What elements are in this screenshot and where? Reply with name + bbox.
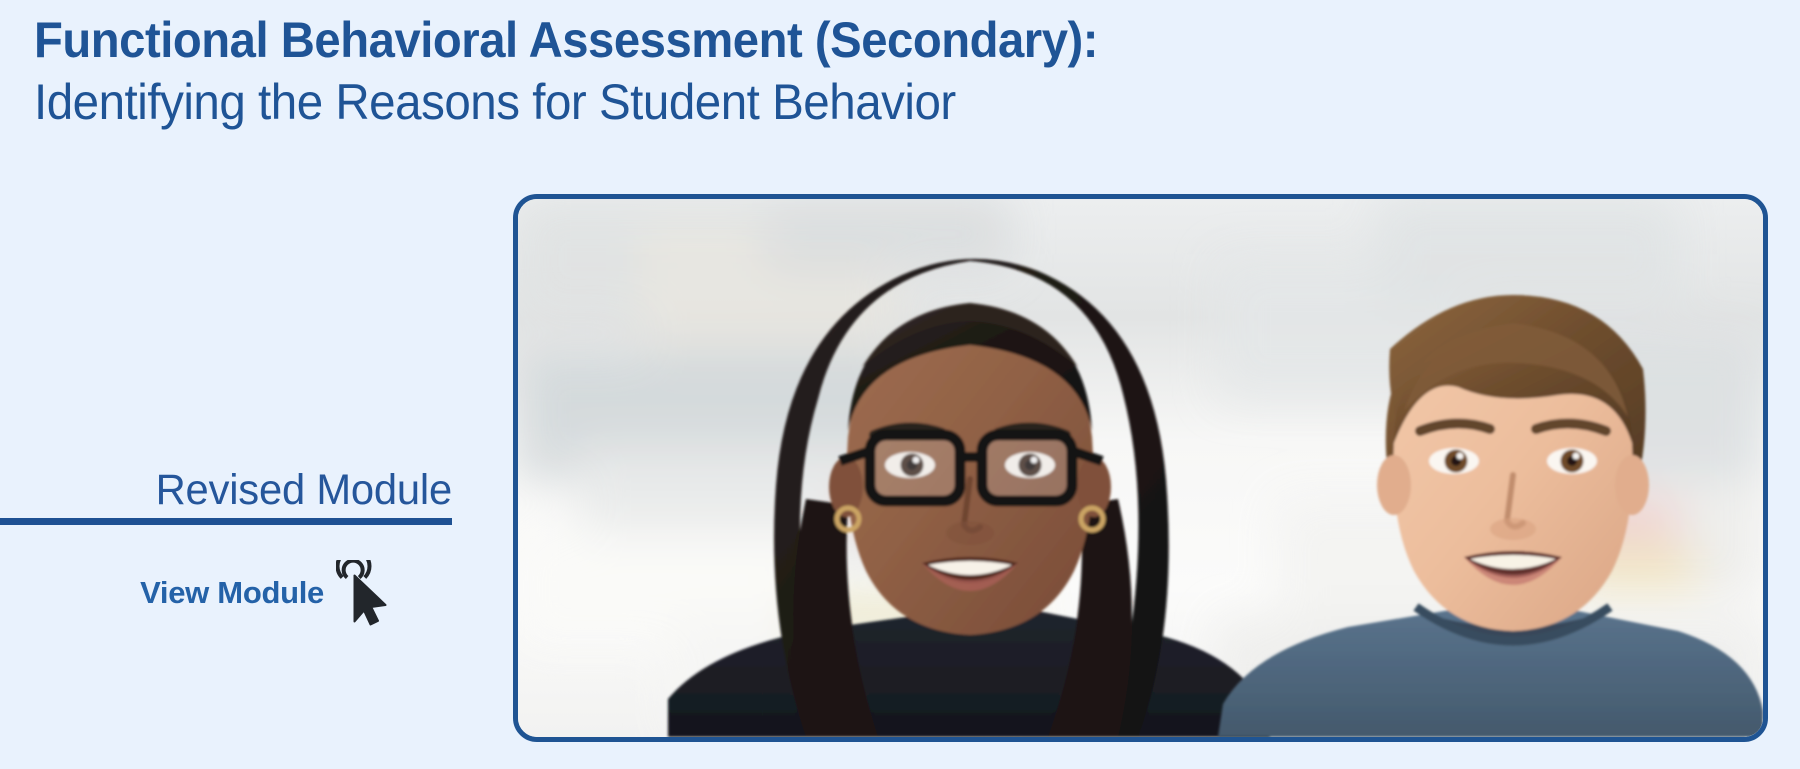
click-cursor-icon xyxy=(336,560,394,626)
divider-rule xyxy=(0,518,452,525)
view-module-label: View Module xyxy=(140,575,324,611)
title-line-secondary: Identifying the Reasons for Student Beha… xyxy=(34,76,1269,129)
view-module-button[interactable]: View Module xyxy=(0,560,452,626)
page-title: Functional Behavioral Assessment (Second… xyxy=(34,14,1334,129)
revised-module-label: Revised Module xyxy=(14,466,452,515)
title-line-primary: Functional Behavioral Assessment (Second… xyxy=(34,14,1263,67)
students-photo-illustration xyxy=(518,199,1763,737)
module-promo-banner: Functional Behavioral Assessment (Second… xyxy=(0,0,1800,769)
students-photo xyxy=(513,194,1768,742)
